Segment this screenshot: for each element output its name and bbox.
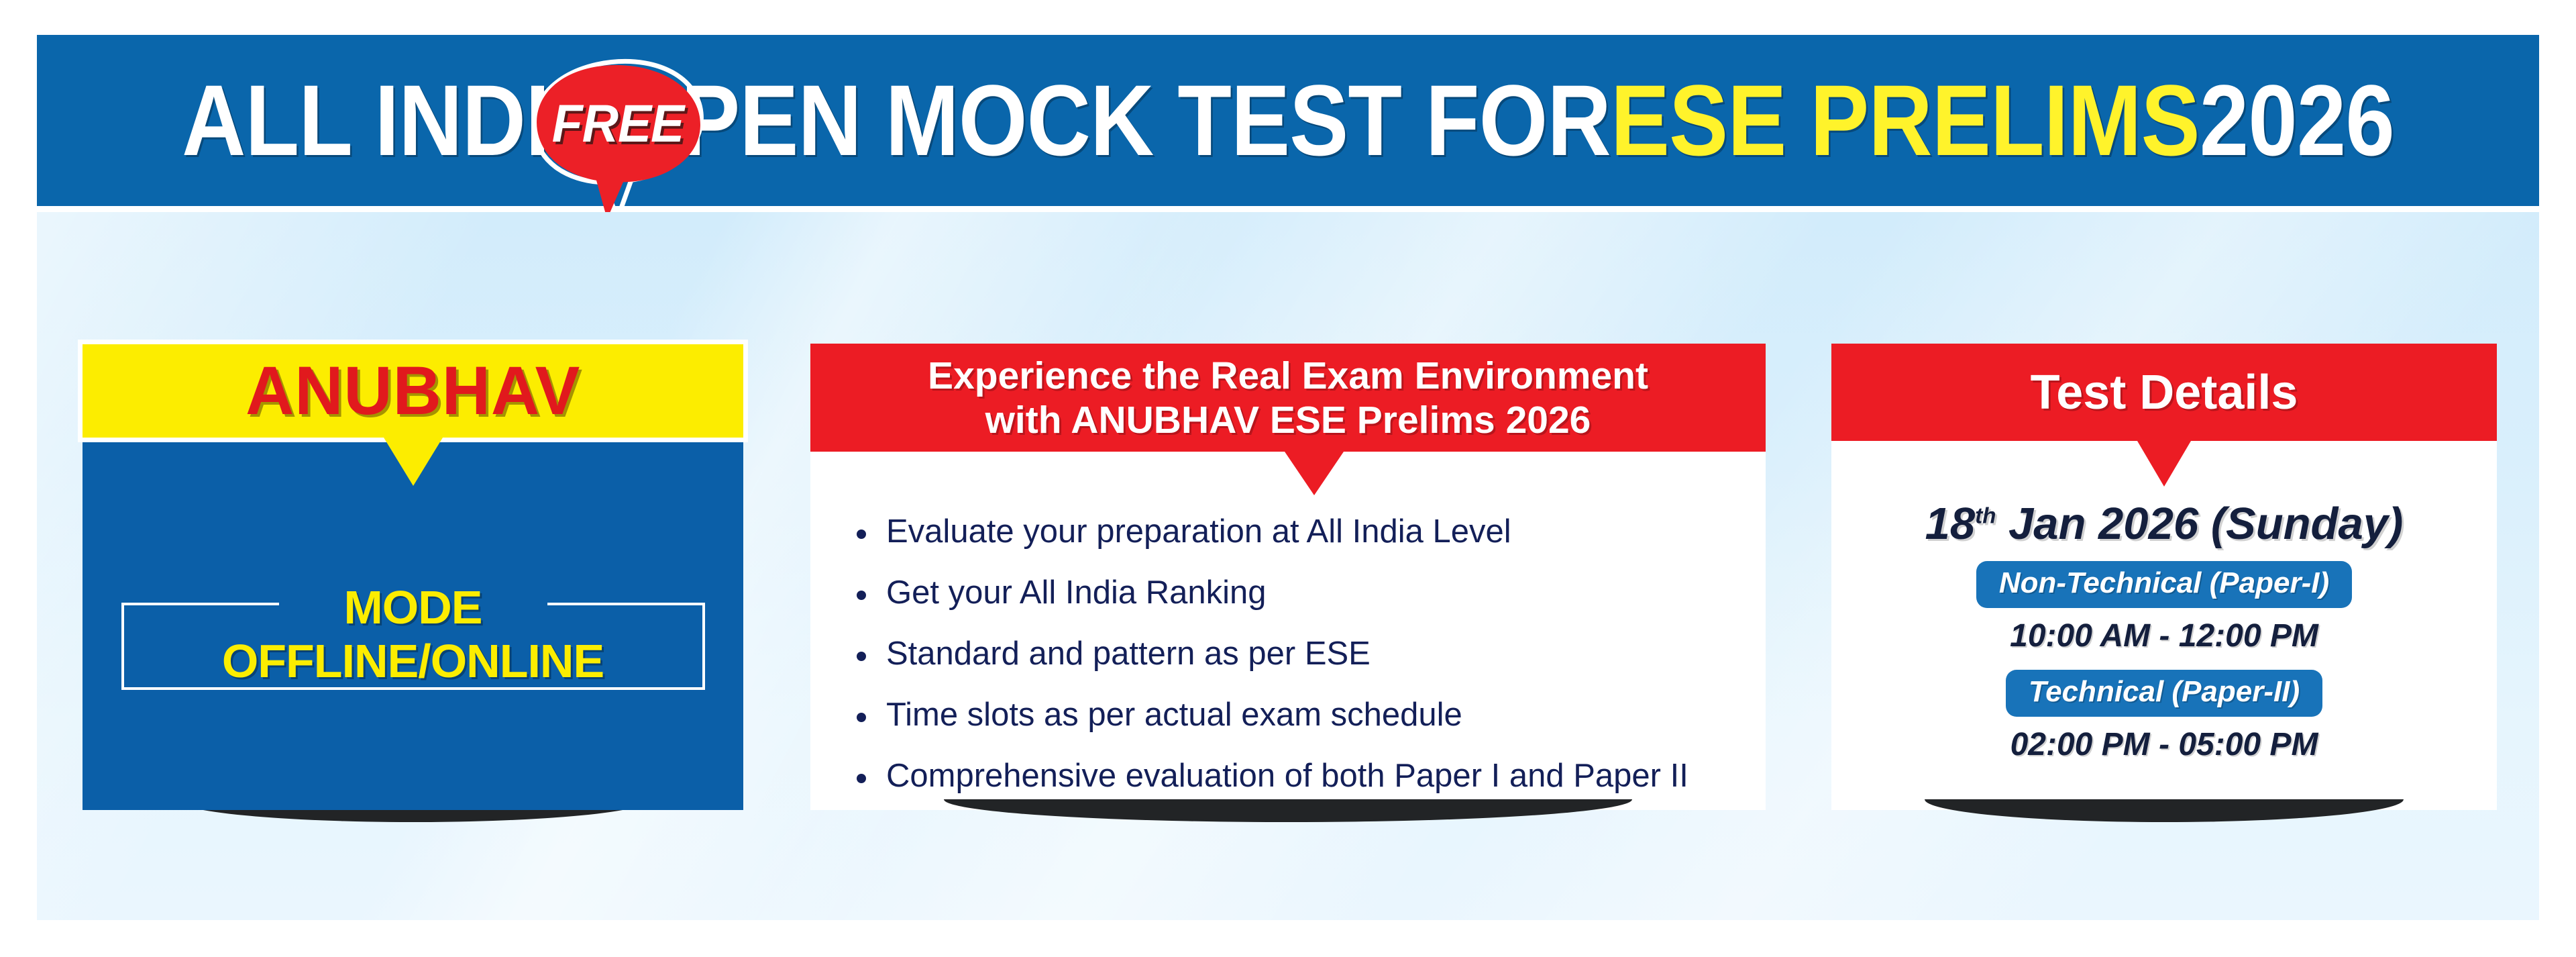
- features-header-line2: with ANUBHAV ESE Prelims 2026: [985, 398, 1591, 442]
- paper-badge-1: Non-Technical (Paper-I): [1976, 561, 2352, 608]
- test-details-header-tail-icon: [2137, 441, 2191, 487]
- headline-highlight: ESE PRELIMS: [1611, 62, 2200, 179]
- test-date-day: 18: [1925, 499, 1976, 549]
- paper-time-1: 10:00 AM - 12:00 PM: [1831, 617, 2497, 655]
- features-bullet-list: Evaluate your preparation at All India L…: [847, 513, 1750, 819]
- headline-text: ALL INDIAOPEN MOCK TEST FORESE PRELIMS20…: [187, 35, 2389, 206]
- anubhav-mode-value: OFFLINE/ONLINE: [222, 635, 604, 687]
- headline-part3: 2026: [2200, 62, 2394, 179]
- list-item: Time slots as per actual exam schedule: [847, 697, 1750, 733]
- list-item: Standard and pattern as per ESE: [847, 636, 1750, 672]
- headline-bar: ALL INDIAOPEN MOCK TEST FORESE PRELIMS20…: [37, 35, 2539, 206]
- promo-banner: ALL INDIAOPEN MOCK TEST FORESE PRELIMS20…: [0, 0, 2576, 957]
- anubhav-card: ANUBHAV ALL INDIA OPEN MOCK TEST MODE OF…: [83, 344, 743, 810]
- features-card-header: Experience the Real Exam Environment wit…: [810, 344, 1766, 452]
- test-details-title: Test Details: [2031, 365, 2298, 420]
- test-details-body: 18th Jan 2026 (Sunday) Non-Technical (Pa…: [1831, 498, 2497, 768]
- test-date: 18th Jan 2026 (Sunday): [1831, 498, 2497, 550]
- headline-part2: OPEN MOCK TEST FOR: [612, 62, 1611, 179]
- test-details-card-header: Test Details: [1831, 344, 2497, 441]
- features-header-tail-icon: [1285, 452, 1344, 495]
- test-slot-2: Technical (Paper-II) 02:00 PM - 05:00 PM: [1831, 659, 2497, 764]
- list-item: Evaluate your preparation at All India L…: [847, 513, 1750, 550]
- anubhav-header-tail-icon: [384, 438, 443, 486]
- test-slot-1: Non-Technical (Paper-I) 10:00 AM - 12:00…: [1831, 550, 2497, 655]
- anubhav-card-header: ANUBHAV: [83, 344, 743, 438]
- anubhav-brand-title: ANUBHAV: [246, 352, 580, 430]
- paper-time-2: 02:00 PM - 05:00 PM: [1831, 726, 2497, 764]
- anubhav-mode-label: MODE: [344, 581, 482, 634]
- list-item: Comprehensive evaluation of both Paper I…: [847, 758, 1750, 794]
- paper-badge-2: Technical (Paper-II): [2006, 670, 2322, 717]
- list-item: Get your All India Ranking: [847, 574, 1750, 611]
- headline-part1: ALL INDIA: [182, 62, 612, 179]
- features-card: Experience the Real Exam Environment wit…: [810, 344, 1766, 810]
- test-details-card: Test Details 18th Jan 2026 (Sunday) Non-…: [1831, 344, 2497, 810]
- test-date-rest: Jan 2026 (Sunday): [1996, 499, 2403, 549]
- features-header-line1: Experience the Real Exam Environment: [928, 354, 1648, 398]
- anubhav-mode-block: MODE OFFLINE/ONLINE: [83, 581, 743, 688]
- test-date-ordinal: th: [1975, 503, 1996, 528]
